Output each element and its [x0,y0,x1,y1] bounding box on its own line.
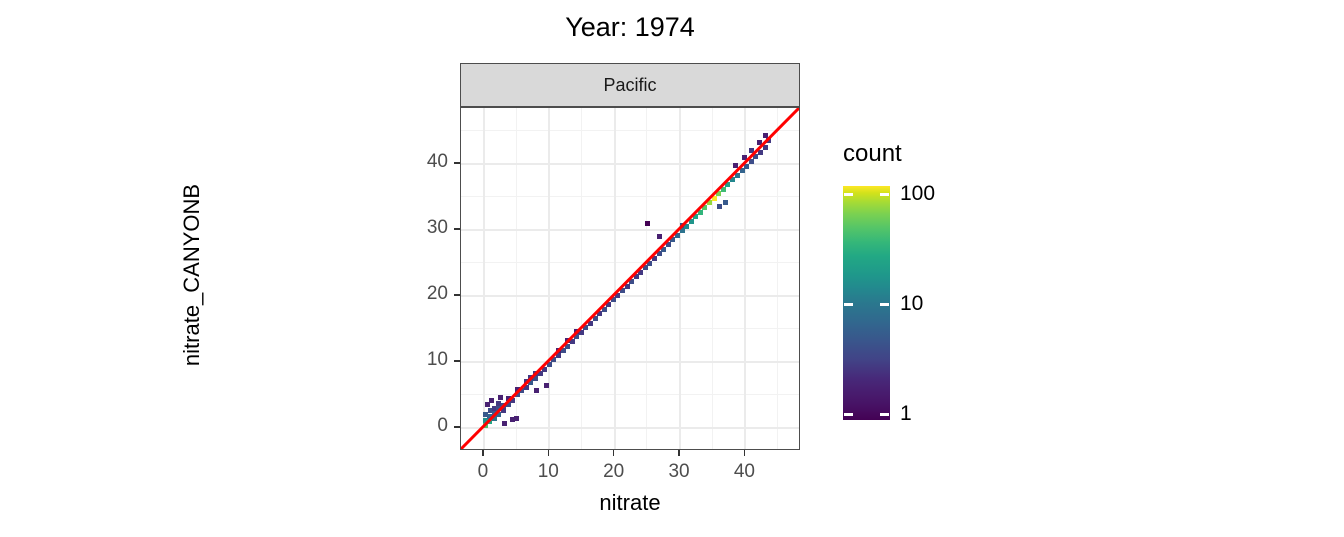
bin-tile [733,163,738,168]
legend-tick-label: 10 [900,292,923,316]
bin-tile [565,344,570,349]
plot-panel-inner [461,108,799,449]
gridline-horizontal [461,328,799,329]
bin-tile [684,224,689,229]
bin-tile [498,395,503,400]
bin-tile [763,133,768,138]
x-axis-title: nitrate [460,490,800,516]
bin-tile [579,330,584,335]
gridline-horizontal [461,229,799,231]
bin-tile [657,251,662,256]
y-axis-tick [454,426,460,428]
x-axis-tick-label: 30 [649,461,709,483]
facet-strip-label: Pacific [461,64,799,106]
bin-tile [570,339,575,344]
bin-tile [556,353,561,358]
bin-tile [652,256,657,261]
gridline-vertical [516,108,517,449]
bin-tile [629,279,634,284]
bin-tile [749,159,754,164]
x-axis-tick [613,450,615,456]
bin-tile [615,293,620,298]
x-axis-tick [548,450,550,456]
bin-tile [625,284,630,289]
bin-tile [740,168,745,173]
gridline-vertical [777,108,778,449]
legend-tick-label: 1 [900,402,912,426]
bin-tile [502,421,507,426]
bin-tile [534,388,539,393]
legend-tick [844,193,853,196]
gridline-vertical [712,108,713,449]
bin-tile [661,247,666,252]
bin-tile [758,150,763,155]
gridline-vertical [548,108,550,449]
y-axis-tick-label: 30 [388,217,448,239]
chart-root: Year: 1974 Pacific nitrate nitrate_CANYO… [0,0,1344,537]
bin-tile [544,383,549,388]
bin-tile [744,164,749,169]
plot-panel [460,107,800,450]
bin-tile [583,325,588,330]
bin-tile [721,187,726,192]
x-axis-tick [678,450,680,456]
bin-tile [730,177,735,182]
bin-tile [524,385,529,390]
legend-title: count [843,140,902,168]
bin-tile [643,265,648,270]
bin-tile [602,307,607,312]
bin-tile [698,210,703,215]
bin-tile [510,398,515,403]
bin-tile [551,357,556,362]
bin-tile [542,367,547,372]
gridline-vertical [614,108,616,449]
bin-tile [717,204,722,209]
bin-tile [725,182,730,187]
bin-tile [753,154,758,159]
gridline-vertical [679,108,681,449]
bin-tile [501,408,506,413]
legend-tick [880,303,889,306]
bin-tile [611,297,616,302]
bin-tile [712,196,717,201]
bin-tile [749,148,754,153]
legend-tick [880,413,889,416]
legend-tick [844,303,853,306]
gridline-vertical [646,108,647,449]
x-axis-tick [482,450,484,456]
bin-tile [645,221,650,226]
bin-tile [593,316,598,321]
bin-tile [763,145,768,150]
bin-tile [533,376,538,381]
bin-tile [514,416,519,421]
gridline-horizontal [461,196,799,197]
bin-tile [670,237,675,242]
gridline-horizontal [461,361,799,363]
gridline-vertical [483,108,485,449]
bin-tile [489,398,494,403]
y-axis-tick [454,162,460,164]
bin-tile [693,214,698,219]
bin-tile [538,371,543,376]
bin-tile [707,200,712,205]
bin-tile [606,302,611,307]
bin-tile [597,311,602,316]
bin-tile [689,219,694,224]
gridline-horizontal [461,427,799,429]
facet-strip: Pacific [460,63,800,107]
y-axis-title: nitrate_CANYONB [179,65,205,485]
x-axis-tick-label: 20 [584,461,644,483]
bin-tile [766,138,771,143]
gridline-horizontal [461,262,799,263]
page-title: Year: 1974 [460,11,800,43]
y-axis-tick-label: 10 [388,349,448,371]
bin-tile [675,233,680,238]
bin-tile [638,270,643,275]
y-axis-tick [454,360,460,362]
legend-colorbar: 110100 [843,186,890,420]
bin-tile [702,205,707,210]
bin-tile [634,274,639,279]
bin-tile [657,234,662,239]
x-axis-tick-label: 40 [714,461,774,483]
y-axis-tick-label: 0 [388,415,448,437]
gridline-vertical [581,108,582,449]
bin-tile [716,191,721,196]
bin-tile [561,348,566,353]
gridline-horizontal [461,394,799,395]
y-axis-tick [454,228,460,230]
legend-tick [880,193,889,196]
gridline-horizontal [461,295,799,297]
bin-tile [547,362,552,367]
x-axis-tick-label: 0 [453,461,513,483]
bin-tile [666,242,671,247]
gridline-horizontal [461,130,799,131]
y-axis-tick-label: 40 [388,151,448,173]
bin-tile [492,416,497,421]
bin-tile [735,173,740,178]
bin-tile [723,200,728,205]
bin-tile [647,261,652,266]
bin-tile [588,321,593,326]
x-axis-tick-label: 10 [518,461,578,483]
bin-tile [574,334,579,339]
bin-tile [742,155,747,160]
legend-tick [844,413,853,416]
bin-tile [757,140,762,145]
x-axis-tick [744,450,746,456]
bin-tile [680,228,685,233]
legend-tick-label: 100 [900,182,935,206]
bin-tile [620,288,625,293]
y-axis-tick-label: 20 [388,283,448,305]
y-axis-tick [454,294,460,296]
